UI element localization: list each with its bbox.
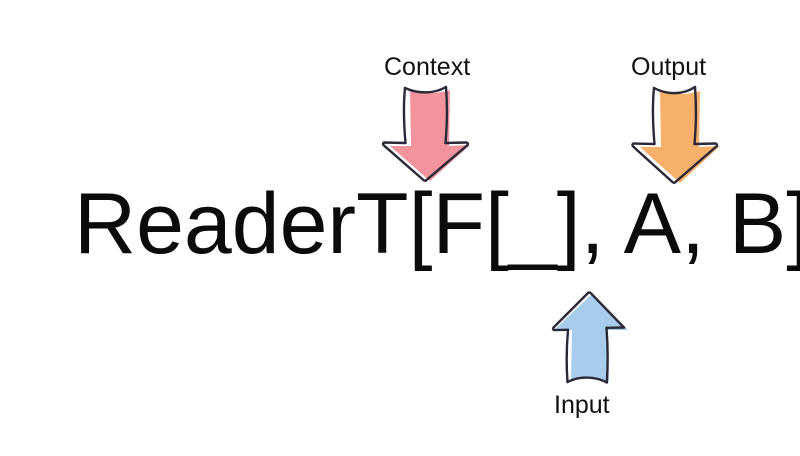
arrow-outline-top-context — [405, 87, 446, 92]
type-signature-text: ReaderT[F[_], A, B] — [74, 181, 800, 267]
annotation-label-input: Input — [554, 393, 610, 418]
arrow-outline-left-shaft-context — [404, 88, 406, 143]
arrow-outline-left-shaft-input — [567, 330, 568, 382]
arrow-outline-right-shaft-input — [607, 328, 608, 383]
arrow-down-output — [630, 84, 726, 184]
annotation-label-output: Output — [631, 55, 706, 80]
arrow-fill-input — [554, 294, 628, 382]
arrow-outline-left-shaft-output — [653, 88, 655, 144]
arrow-up-input — [548, 290, 630, 388]
annotation-label-context: Context — [384, 55, 470, 80]
arrow-fill-context — [390, 90, 470, 181]
diagram-canvas: Context Output — [0, 0, 800, 456]
arrow-down-context — [380, 84, 476, 182]
